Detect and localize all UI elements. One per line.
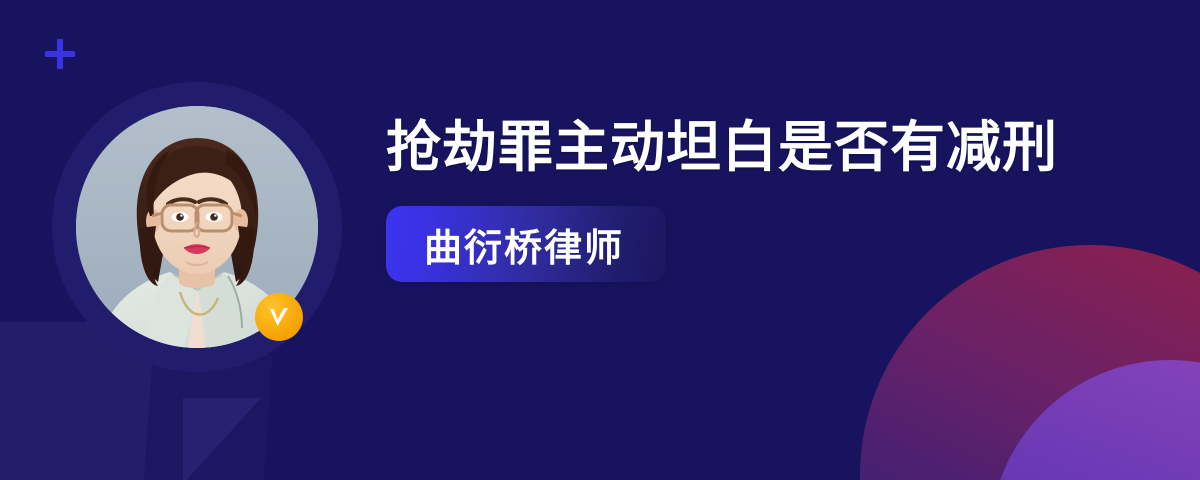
- avatar[interactable]: [52, 82, 342, 382]
- lawyer-promo-banner: 抢劫罪主动坦白是否有减刑 曲衍桥律师: [0, 0, 1200, 480]
- verified-check-icon: [255, 293, 303, 341]
- decorative-triangle: [183, 398, 261, 480]
- page-title: 抢劫罪主动坦白是否有减刑: [386, 108, 1058, 186]
- content-column: 抢劫罪主动坦白是否有减刑 曲衍桥律师: [386, 108, 1126, 282]
- decorative-circle-violet: [990, 360, 1200, 480]
- lawyer-name-button[interactable]: 曲衍桥律师: [386, 206, 666, 282]
- plus-icon: [42, 36, 78, 72]
